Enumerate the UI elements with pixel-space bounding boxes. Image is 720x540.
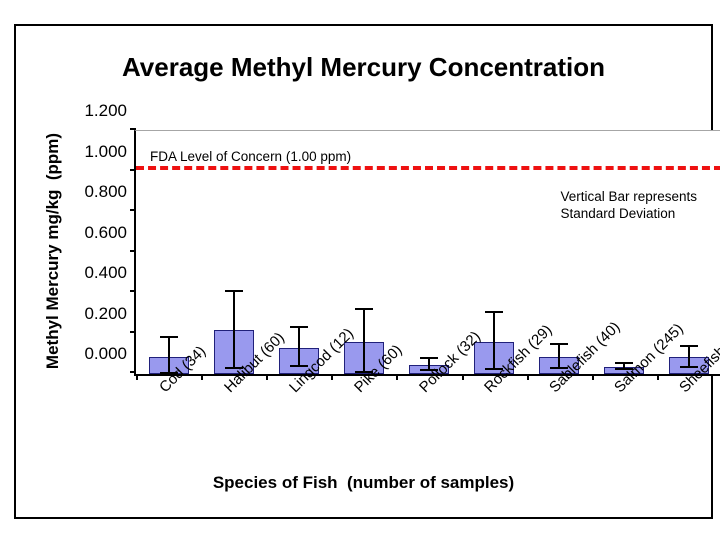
error-bar-cap-upper: [420, 357, 438, 359]
x-tick-mark: [592, 374, 594, 380]
x-tick-mark: [462, 374, 464, 380]
chart-frame: Average Methyl Mercury Concentration Met…: [14, 24, 713, 519]
error-bar-stem: [688, 347, 690, 367]
error-bar-stem: [168, 338, 170, 374]
annotation-line-2: Standard Deviation: [560, 205, 697, 222]
error-bar-stem: [493, 313, 495, 370]
error-bar-cap-upper: [160, 336, 178, 338]
error-bar-cap-upper: [485, 311, 503, 313]
chart-title: Average Methyl Mercury Concentration: [16, 52, 711, 83]
annotation-line-1: Vertical Bar represents: [560, 188, 697, 205]
x-tick-mark: [527, 374, 529, 380]
y-tick-label: 1.200: [84, 101, 127, 121]
error-bar-cap-upper: [355, 308, 373, 310]
y-tick-label: 0.000: [84, 344, 127, 364]
x-tick-mark: [201, 374, 203, 380]
y-axis-title: Methyl Mercury mg/kg (ppm): [42, 106, 64, 396]
y-tick-label: 1.000: [84, 142, 127, 162]
error-bar-stem: [363, 310, 365, 373]
error-bar-cap-upper: [290, 326, 308, 328]
y-tick-label: 0.800: [84, 182, 127, 202]
x-tick-mark: [396, 374, 398, 380]
error-bar-stem: [298, 328, 300, 366]
x-tick-mark: [266, 374, 268, 380]
fda-threshold-line: [136, 166, 720, 170]
error-bar-stem: [233, 292, 235, 369]
plot-area: 0.0000.2000.4000.6000.8001.0001.200 Cod …: [134, 130, 720, 376]
y-tick-label: 0.600: [84, 223, 127, 243]
error-bar-stem: [558, 345, 560, 369]
x-axis-title: Species of Fish (number of samples): [16, 473, 711, 493]
y-tick-mark: [130, 128, 136, 130]
x-tick-mark: [136, 374, 138, 380]
x-tick-mark: [331, 374, 333, 380]
error-bar-cap-upper: [225, 290, 243, 292]
fda-threshold-label: FDA Level of Concern (1.00 ppm): [150, 149, 351, 164]
standard-deviation-annotation: Vertical Bar represents Standard Deviati…: [560, 188, 697, 222]
y-tick-label: 0.200: [84, 304, 127, 324]
error-bar-cap-upper: [680, 345, 698, 347]
error-bar-cap-upper: [550, 343, 568, 345]
y-tick-label: 0.400: [84, 263, 127, 283]
x-tick-mark: [657, 374, 659, 380]
